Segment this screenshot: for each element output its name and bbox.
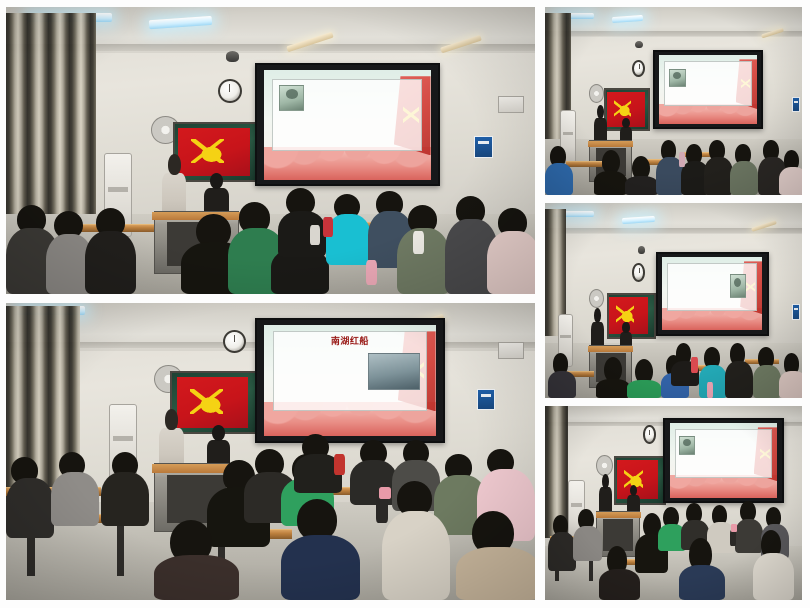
hammer-sickle-icon bbox=[190, 389, 223, 413]
student-body bbox=[101, 472, 149, 525]
slide-text-card bbox=[272, 79, 422, 152]
slide-body-text bbox=[281, 354, 365, 358]
water-bottle bbox=[731, 524, 737, 532]
slide-portrait-image bbox=[669, 69, 686, 87]
photo-panel-bottom-left[interactable]: 南湖红船 bbox=[6, 303, 535, 600]
hammer-sickle-icon bbox=[614, 100, 632, 117]
projection-screen bbox=[656, 252, 769, 336]
wall-clock-icon bbox=[643, 425, 656, 443]
student-body bbox=[545, 163, 573, 195]
slide-photo-image bbox=[368, 353, 420, 390]
ceiling-beam bbox=[545, 228, 802, 232]
student-body bbox=[725, 361, 753, 398]
lectern-top bbox=[588, 141, 633, 146]
slide-surface bbox=[659, 55, 757, 124]
water-bottle bbox=[679, 152, 685, 167]
student-body bbox=[85, 231, 135, 294]
student-body bbox=[779, 167, 802, 195]
student-desk bbox=[566, 161, 602, 167]
slide-portrait-image bbox=[279, 85, 304, 110]
student-body bbox=[596, 379, 629, 399]
water-bottle bbox=[413, 231, 424, 254]
blue-wall-sign bbox=[792, 304, 801, 320]
student-body bbox=[594, 171, 627, 195]
lectern-top bbox=[152, 212, 241, 220]
cpc-flag bbox=[178, 128, 249, 177]
slide-text-card bbox=[667, 263, 757, 312]
slide-surface bbox=[670, 423, 777, 498]
slide-text-card bbox=[675, 429, 772, 478]
water-bottle bbox=[691, 357, 697, 373]
water-bottle bbox=[366, 260, 378, 286]
photo-panel-right-2[interactable] bbox=[545, 203, 802, 398]
blue-wall-sign bbox=[474, 136, 493, 158]
student-body bbox=[456, 547, 535, 600]
slide-body-text bbox=[281, 392, 414, 398]
water-bottle bbox=[334, 454, 345, 475]
slide-body-text bbox=[688, 67, 747, 70]
lectern-top bbox=[588, 346, 633, 351]
student-body bbox=[154, 555, 239, 600]
classroom-scene bbox=[545, 7, 802, 195]
classroom-scene: 南湖红船 bbox=[6, 303, 535, 600]
window-curtain bbox=[6, 13, 96, 231]
slide-body-text bbox=[669, 87, 747, 90]
security-camera-icon bbox=[635, 41, 643, 49]
wall-clock-icon bbox=[632, 60, 645, 77]
classroom-scene bbox=[6, 7, 535, 294]
slide-cloud-decoration bbox=[662, 308, 762, 330]
slide-body-text bbox=[699, 436, 766, 439]
slide-surface bbox=[662, 257, 762, 330]
student-body bbox=[487, 231, 535, 294]
cpc-flag bbox=[617, 460, 658, 499]
photo-panel-right-3[interactable] bbox=[545, 406, 802, 600]
water-bottle bbox=[379, 487, 391, 499]
projection-screen bbox=[255, 63, 440, 186]
projection-screen bbox=[653, 50, 764, 129]
lectern-top bbox=[596, 512, 641, 518]
slide-cloud-decoration bbox=[670, 475, 777, 497]
student-body bbox=[573, 526, 601, 561]
water-bottle bbox=[323, 217, 333, 237]
student-body bbox=[735, 519, 763, 554]
student-body bbox=[704, 157, 732, 195]
classroom-scene bbox=[545, 203, 802, 398]
slide-title: 南湖红船 bbox=[274, 337, 426, 346]
slide-body-text bbox=[681, 456, 766, 460]
student-body bbox=[599, 569, 640, 600]
student-body bbox=[753, 553, 794, 600]
student-body bbox=[627, 380, 660, 398]
projection-screen: 南湖红船 bbox=[255, 318, 445, 443]
student-body bbox=[753, 365, 781, 398]
student-body bbox=[51, 472, 99, 525]
slide-body-text bbox=[672, 274, 724, 276]
student-body bbox=[382, 511, 451, 600]
slide-portrait-image bbox=[679, 436, 695, 455]
water-bottle bbox=[707, 382, 713, 398]
wall-panel bbox=[498, 96, 524, 113]
student-body bbox=[779, 371, 802, 398]
blue-wall-sign bbox=[477, 389, 495, 410]
wall-fan-icon bbox=[596, 455, 613, 476]
security-camera-icon bbox=[226, 51, 240, 61]
student-body bbox=[679, 565, 725, 600]
water-bottle bbox=[730, 530, 736, 546]
slide-portrait-image bbox=[730, 274, 746, 298]
slide-cloud-decoration bbox=[264, 147, 431, 180]
water-bottle bbox=[310, 225, 320, 245]
hammer-sickle-icon bbox=[191, 139, 224, 162]
projection-screen bbox=[663, 418, 784, 503]
student-body bbox=[548, 532, 576, 571]
slide-text-card: 南湖红船 bbox=[273, 331, 427, 411]
blue-wall-sign bbox=[792, 97, 801, 112]
hammer-sickle-icon bbox=[616, 305, 634, 323]
slide-text-card bbox=[664, 61, 752, 107]
classroom-scene bbox=[545, 406, 802, 600]
slide-surface: 南湖红船 bbox=[264, 325, 436, 436]
wall-clock-icon bbox=[218, 79, 242, 104]
slide-surface bbox=[264, 70, 431, 180]
student-body bbox=[548, 371, 576, 398]
security-camera-icon bbox=[638, 246, 646, 254]
student-body bbox=[6, 478, 54, 537]
slide-cloud-decoration bbox=[659, 104, 757, 125]
photo-panel-right-1[interactable] bbox=[545, 7, 802, 195]
slide-body-text bbox=[281, 115, 414, 121]
slide-body-text bbox=[309, 87, 414, 92]
student-body bbox=[730, 161, 758, 195]
photo-collage: 南湖红船 bbox=[0, 0, 810, 608]
wall-fan-icon bbox=[589, 84, 604, 103]
student-body bbox=[699, 365, 727, 398]
student-body bbox=[625, 176, 658, 195]
wall-panel bbox=[498, 342, 524, 360]
student-body bbox=[281, 535, 360, 600]
desk-leg bbox=[117, 523, 124, 576]
photo-panel-top-left[interactable] bbox=[6, 7, 535, 294]
water-bottle bbox=[376, 496, 388, 523]
cpc-flag bbox=[177, 377, 248, 427]
